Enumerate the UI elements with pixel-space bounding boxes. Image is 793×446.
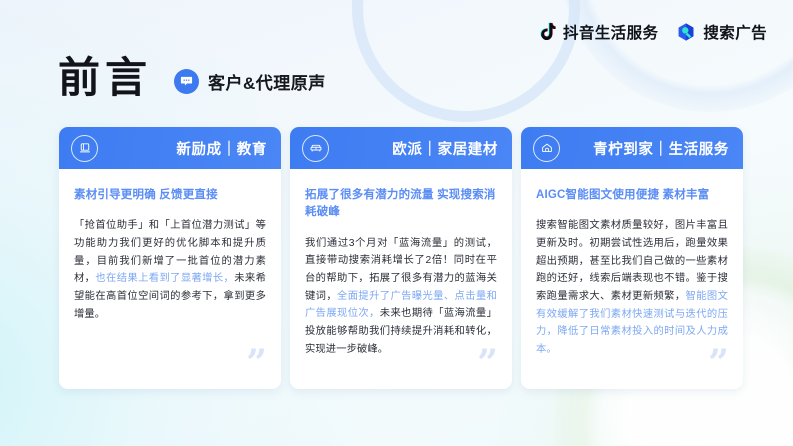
decorative-ring-large xyxy=(352,0,580,122)
card-header: 欧派｜家居建材 xyxy=(290,127,512,169)
testimonial-card[interactable]: 新励成｜教育 素材引导更明确 反馈更直接 「抢首位助手」和「上首位潜力测试」等功… xyxy=(59,127,281,389)
speech-bubble-icon xyxy=(174,69,199,94)
testimonial-card[interactable]: 青柠到家｜生活服务 AIGC智能图文使用便捷 素材丰富 搜索智能图文素材质量较好… xyxy=(521,127,743,389)
card-body: 素材引导更明确 反馈更直接 「抢首位助手」和「上首位潜力测试」等功能助力我们更好… xyxy=(59,169,281,389)
card-title: 青柠到家｜生活服务 xyxy=(593,138,729,159)
page-subtitle-group: 客户&代理原声 xyxy=(174,69,326,99)
card-body: 拓展了很多有潜力的流量 实现搜索消耗破峰 我们通过3个月对「蓝海流量」的测试，直… xyxy=(290,169,512,389)
home-icon xyxy=(533,135,560,162)
brand-bar: 抖音生活服务 搜索广告 xyxy=(537,21,767,43)
page-subtitle: 客户&代理原声 xyxy=(208,69,326,94)
card-heading: 拓展了很多有潜力的流量 实现搜索消耗破峰 xyxy=(305,187,497,222)
book-icon xyxy=(71,135,98,162)
douyin-logo-icon xyxy=(537,22,556,43)
card-header: 青柠到家｜生活服务 xyxy=(521,127,743,169)
card-paragraph: 「抢首位助手」和「上首位潜力测试」等功能助力我们更好的优化脚本和提升质量，目前我… xyxy=(74,217,266,323)
slide-canvas: 抖音生活服务 搜索广告 前言 xyxy=(0,0,793,446)
brand-douyin-label: 抖音生活服务 xyxy=(563,21,658,43)
card-body: AIGC智能图文使用便捷 素材丰富 搜索智能图文素材质量较好，图片丰富且更新及时… xyxy=(521,169,743,389)
decorative-ring-soft xyxy=(560,0,793,112)
testimonial-card-list: 新励成｜教育 素材引导更明确 反馈更直接 「抢首位助手」和「上首位潜力测试」等功… xyxy=(59,127,743,389)
quote-mark-icon: ” xyxy=(246,345,267,381)
card-heading: AIGC智能图文使用便捷 素材丰富 xyxy=(536,187,728,204)
search-ads-logo-icon xyxy=(676,22,696,43)
brand-search-ads: 搜索广告 xyxy=(676,21,767,43)
sofa-icon xyxy=(302,135,329,162)
card-paragraph: 我们通过3个月对「蓝海流量」的测试，直接带动搜索消耗增长了2倍！同时在平台的帮助… xyxy=(305,235,497,359)
testimonial-card[interactable]: 欧派｜家居建材 拓展了很多有潜力的流量 实现搜索消耗破峰 我们通过3个月对「蓝海… xyxy=(290,127,512,389)
quote-mark-icon: ” xyxy=(708,345,729,381)
page-title-row: 前言 客户&代理原声 xyxy=(58,57,326,99)
card-paragraph: 搜索智能图文素材质量较好，图片丰富且更新及时。初期尝试性选用后，跑量效果超出预期… xyxy=(536,217,728,359)
card-heading: 素材引导更明确 反馈更直接 xyxy=(74,187,266,204)
brand-douyin: 抖音生活服务 xyxy=(537,21,658,43)
card-title: 欧派｜家居建材 xyxy=(392,138,498,159)
brand-search-ads-label: 搜索广告 xyxy=(703,21,767,43)
card-title: 新励成｜教育 xyxy=(176,138,267,159)
quote-mark-icon: ” xyxy=(477,345,498,381)
page-title: 前言 xyxy=(58,57,152,99)
card-header: 新励成｜教育 xyxy=(59,127,281,169)
